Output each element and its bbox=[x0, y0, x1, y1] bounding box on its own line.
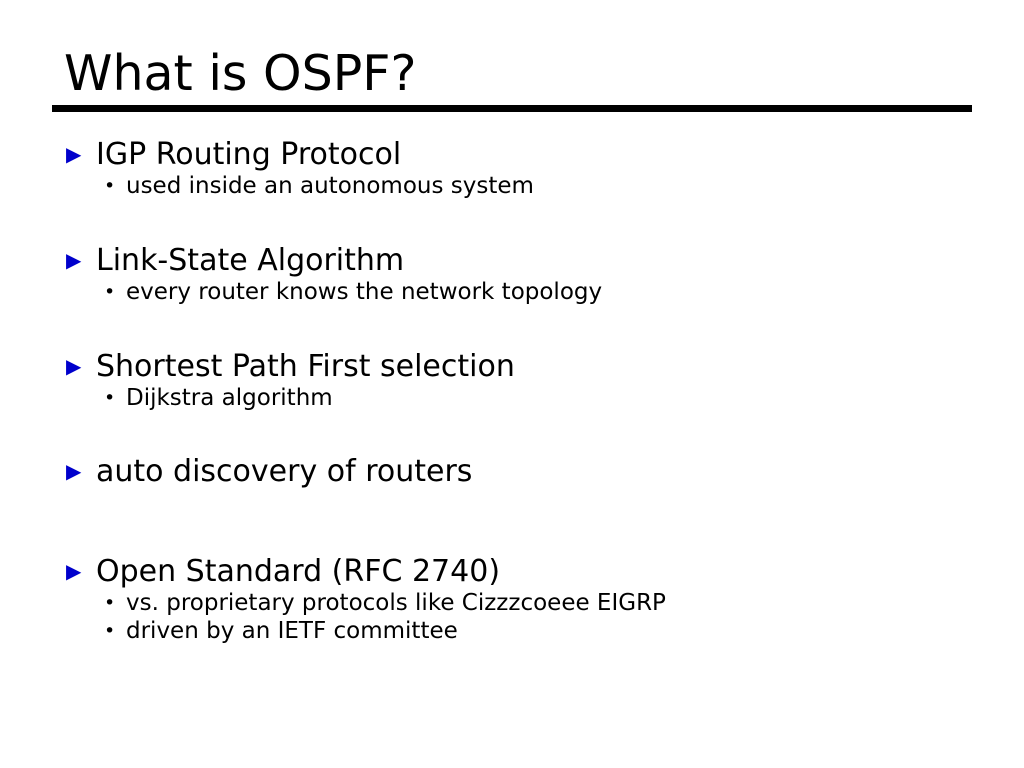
bullet-level2-label: driven by an IETF committee bbox=[126, 619, 458, 645]
bullet-level2: • used inside an autonomous system bbox=[104, 174, 996, 200]
triangle-bullet-icon: ▶ bbox=[66, 461, 96, 481]
bullet-level2: • every router knows the network topolog… bbox=[104, 280, 996, 306]
dot-bullet-icon: • bbox=[104, 594, 126, 613]
bullet-level1-label: Link-State Algorithm bbox=[96, 246, 404, 276]
bullet-level2-label: used inside an autonomous system bbox=[126, 174, 534, 200]
bullet-level1-label: IGP Routing Protocol bbox=[96, 140, 401, 170]
bullet-level2-label: vs. proprietary protocols like Cizzzcoee… bbox=[126, 591, 666, 617]
bullet-level1: ▶ Shortest Path First selection bbox=[66, 352, 996, 382]
title-block: What is OSPF? bbox=[52, 48, 972, 112]
slide-content: ▶ IGP Routing Protocol • used inside an … bbox=[66, 140, 996, 647]
bullet-group-2: ▶ Link-State Algorithm • every router kn… bbox=[66, 246, 996, 306]
bullet-level2: • driven by an IETF committee bbox=[104, 619, 996, 645]
bullet-level1-label: Open Standard (RFC 2740) bbox=[96, 557, 500, 587]
bullet-level1: ▶ Open Standard (RFC 2740) bbox=[66, 557, 996, 587]
triangle-bullet-icon: ▶ bbox=[66, 561, 96, 581]
bullet-level1-label: Shortest Path First selection bbox=[96, 352, 515, 382]
spacer bbox=[66, 491, 996, 535]
bullet-level2: • vs. proprietary protocols like Cizzzco… bbox=[104, 591, 996, 617]
bullet-level2-label: every router knows the network topology bbox=[126, 280, 602, 306]
spacer bbox=[66, 413, 996, 457]
bullet-group-3: ▶ Shortest Path First selection • Dijkst… bbox=[66, 352, 996, 412]
bullet-group-5: ▶ Open Standard (RFC 2740) • vs. proprie… bbox=[66, 557, 996, 645]
spacer bbox=[66, 202, 996, 246]
bullet-level1: ▶ IGP Routing Protocol bbox=[66, 140, 996, 170]
bullet-group-1: ▶ IGP Routing Protocol • used inside an … bbox=[66, 140, 996, 200]
slide: What is OSPF? ▶ IGP Routing Protocol • u… bbox=[0, 0, 1024, 768]
spacer bbox=[66, 308, 996, 352]
bullet-level1: ▶ auto discovery of routers bbox=[66, 457, 996, 487]
bullet-group-4: ▶ auto discovery of routers bbox=[66, 457, 996, 487]
dot-bullet-icon: • bbox=[104, 389, 126, 408]
triangle-bullet-icon: ▶ bbox=[66, 250, 96, 270]
title-divider bbox=[52, 105, 972, 112]
triangle-bullet-icon: ▶ bbox=[66, 144, 96, 164]
bullet-level1-label: auto discovery of routers bbox=[96, 457, 472, 487]
bullet-level1: ▶ Link-State Algorithm bbox=[66, 246, 996, 276]
triangle-bullet-icon: ▶ bbox=[66, 356, 96, 376]
page-title: What is OSPF? bbox=[52, 48, 972, 105]
dot-bullet-icon: • bbox=[104, 622, 126, 641]
bullet-level2: • Dijkstra algorithm bbox=[104, 386, 996, 412]
bullet-level2-label: Dijkstra algorithm bbox=[126, 386, 333, 412]
dot-bullet-icon: • bbox=[104, 283, 126, 302]
dot-bullet-icon: • bbox=[104, 177, 126, 196]
